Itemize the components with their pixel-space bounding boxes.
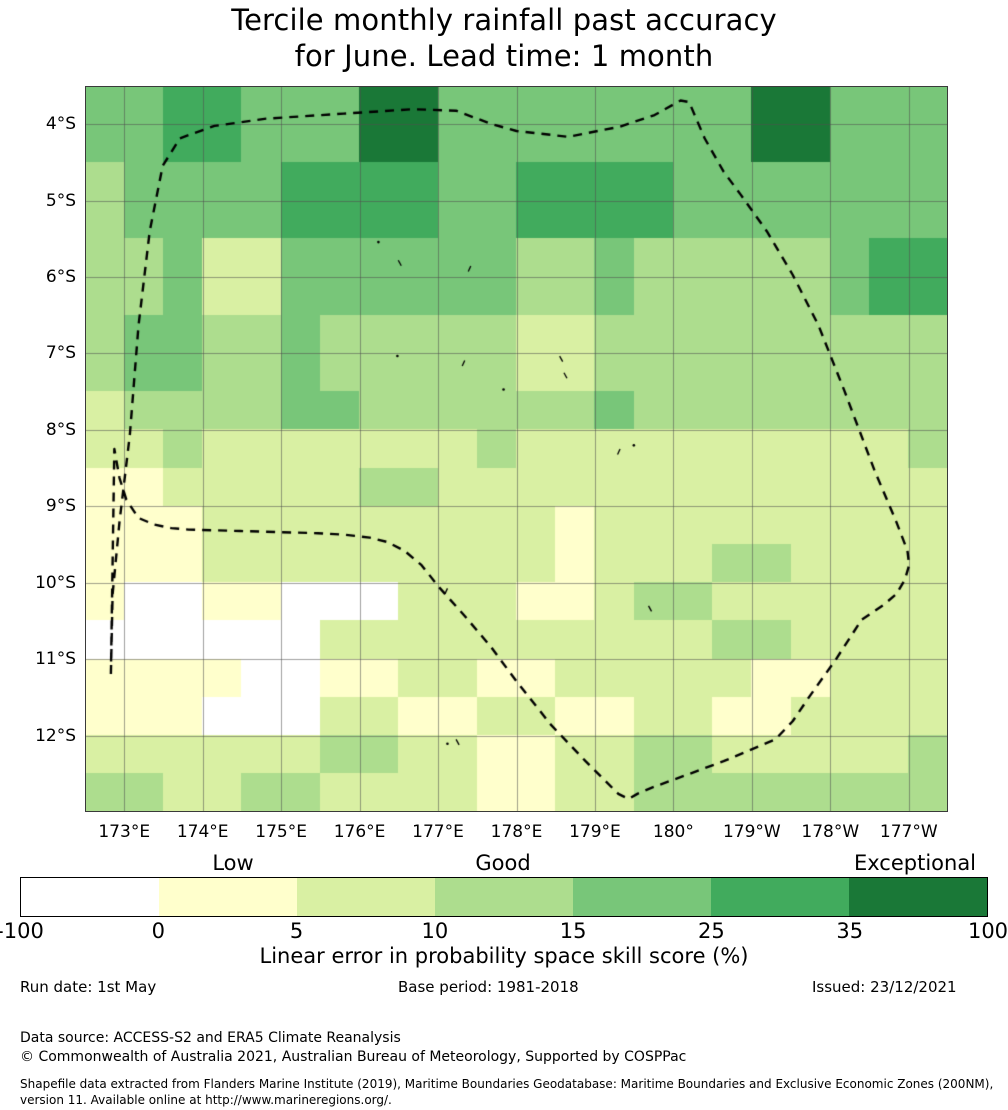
data-source: Data source: ACCESS-S2 and ERA5 Climate … [20,1029,401,1047]
colorbar-tick-label: 10 [421,919,448,943]
colorbar-tick-label: 100 [968,919,1008,943]
shapefile-credit-line-2: version 11. Available online at http://w… [20,1092,392,1108]
colorbar-segment [297,878,435,916]
longitude-tick-label: 180° [653,823,694,842]
colorbar-segment [435,878,573,916]
colorbar-tick-label: 5 [290,919,303,943]
colorbar-tick-label: 15 [560,919,587,943]
colorbar-category-label: Good [475,851,530,876]
colorbar-segment [159,878,297,916]
colorbar-category-label: Low [212,851,253,876]
run-date: Run date: 1st May [20,978,156,996]
longitude-tick-label: 174°E [177,823,229,842]
longitude-tick-label: 173°E [98,823,150,842]
issued-date: Issued: 23/12/2021 [812,978,957,996]
longitude-tick-label: 175°E [255,823,307,842]
colorbar-category-label: Exceptional [854,851,976,876]
longitude-tick-label: 179°E [569,823,621,842]
colorbar-segment [711,878,849,916]
colorbar [20,877,988,917]
figure-root: Tercile monthly rainfall past accuracy f… [0,0,1008,1110]
longitude-tick-label: 177°E [412,823,464,842]
longitude-tick-label: 178°W [801,823,859,842]
longitude-tick-label: 178°E [491,823,543,842]
longitude-tick-label: 177°W [880,823,938,842]
colorbar-segment [573,878,711,916]
longitude-tick-label: 176°E [334,823,386,842]
colorbar-segment [849,878,987,916]
colorbar-tick-label: 0 [152,919,165,943]
colorbar-tick-label: 25 [698,919,725,943]
colorbar-axis-label: Linear error in probability space skill … [0,944,1008,969]
colorbar-tick-label: 35 [836,919,863,943]
copyright: © Commonwealth of Australia 2021, Austra… [20,1048,686,1066]
longitude-tick-label: 179°W [723,823,781,842]
colorbar-tick-label: -100 [0,919,44,943]
shapefile-credit-line-1: Shapefile data extracted from Flanders M… [20,1076,993,1092]
colorbar-segment [21,878,159,916]
base-period: Base period: 1981-2018 [398,978,579,996]
